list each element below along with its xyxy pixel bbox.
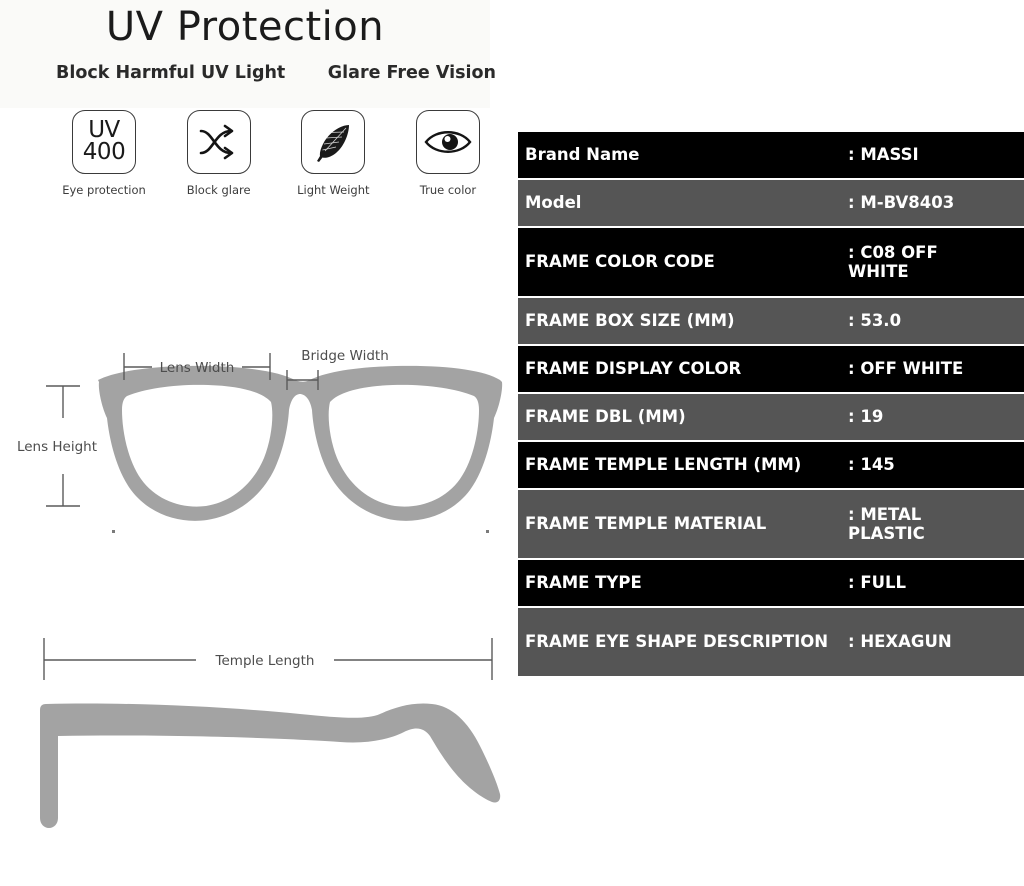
spec-row: FRAME TEMPLE LENGTH (MM): 145 (518, 442, 1024, 490)
spec-row: FRAME BOX SIZE (MM): 53.0 (518, 298, 1024, 346)
uv400-icon: UV 400 (83, 120, 125, 163)
spec-value: : FULL (848, 565, 1024, 600)
spec-value: : HEXAGUN (848, 624, 1024, 659)
spec-label: FRAME TEMPLE LENGTH (MM) (518, 447, 848, 482)
feature-block-glare: Block glare (171, 110, 267, 197)
spec-value: : C08 OFF WHITE (848, 235, 1024, 290)
shuffle-arrows-icon (197, 122, 241, 162)
spec-row: FRAME DBL (MM): 19 (518, 394, 1024, 442)
spec-label: FRAME TYPE (518, 565, 848, 600)
spec-label: Brand Name (518, 137, 848, 172)
spec-value: : OFF WHITE (848, 351, 1024, 386)
uv-protection-banner: UV Protection Block Harmful UV Light Gla… (0, 0, 490, 108)
feature-label-block-glare: Block glare (187, 183, 251, 197)
eye-icon (424, 127, 472, 157)
spec-row: Model: M-BV8403 (518, 180, 1024, 228)
spec-value: : 145 (848, 447, 1024, 482)
lens-width-label: Lens Width (160, 360, 235, 376)
spec-row: FRAME COLOR CODE: C08 OFF WHITE (518, 228, 1024, 298)
spec-value: : 53.0 (848, 303, 1024, 338)
temple-arm-shape (40, 703, 500, 828)
temple-length-label: Temple Length (215, 653, 315, 669)
spec-label: FRAME EYE SHAPE DESCRIPTION (518, 624, 848, 659)
spec-row: FRAME EYE SHAPE DESCRIPTION: HEXAGUN (518, 608, 1024, 678)
feature-eye-protection: UV 400 Eye protection (56, 110, 152, 197)
bridge-width-label: Bridge Width (301, 348, 389, 364)
glasses-temple-diagram: Temple Length (0, 618, 512, 868)
uv400-bottom-text: 400 (83, 142, 125, 164)
feather-icon (311, 120, 355, 164)
feature-label-eye-protection: Eye protection (62, 183, 146, 197)
banner-subtitles: Block Harmful UV Light Glare Free Vision (56, 63, 496, 83)
spec-value: : M-BV8403 (848, 185, 1024, 220)
glasses-frame-shape (98, 366, 502, 533)
shuffle-arrows-icon-box (187, 110, 251, 174)
spec-label: FRAME BOX SIZE (MM) (518, 303, 848, 338)
spec-row: FRAME DISPLAY COLOR: OFF WHITE (518, 346, 1024, 394)
feature-true-color: True color (400, 110, 496, 197)
spec-value: : MASSI (848, 137, 1024, 172)
banner-subtitle-left: Block Harmful UV Light (56, 63, 285, 83)
spec-label: FRAME DBL (MM) (518, 399, 848, 434)
eye-icon-box (416, 110, 480, 174)
spec-label: FRAME TEMPLE MATERIAL (518, 506, 848, 541)
spec-value: : 19 (848, 399, 1024, 434)
feature-label-true-color: True color (420, 183, 476, 197)
banner-title: UV Protection (0, 4, 490, 50)
banner-subtitle-right: Glare Free Vision (328, 63, 496, 83)
spec-row: FRAME TEMPLE MATERIAL: METAL PLASTIC (518, 490, 1024, 560)
spec-value: : METAL PLASTIC (848, 497, 1024, 552)
spec-row: FRAME TYPE: FULL (518, 560, 1024, 608)
spec-label: Model (518, 185, 848, 220)
feature-light-weight: Light Weight (285, 110, 381, 197)
product-specification-table: Brand Name: MASSIModel: M-BV8403FRAME CO… (518, 130, 1024, 680)
uv400-icon-box: UV 400 (72, 110, 136, 174)
spec-label: FRAME COLOR CODE (518, 244, 848, 279)
spec-row: Brand Name: MASSI (518, 132, 1024, 180)
product-illustration-panel: UV Protection Block Harmful UV Light Gla… (0, 0, 512, 886)
lens-height-label: Lens Height (17, 439, 97, 455)
feature-label-light-weight: Light Weight (297, 183, 369, 197)
spec-label: FRAME DISPLAY COLOR (518, 351, 848, 386)
feature-icon-row: UV 400 Eye protection Block glare (56, 110, 496, 197)
glasses-front-diagram: Lens Width Bridge Width Lens Height (0, 318, 512, 568)
feather-icon-box (301, 110, 365, 174)
